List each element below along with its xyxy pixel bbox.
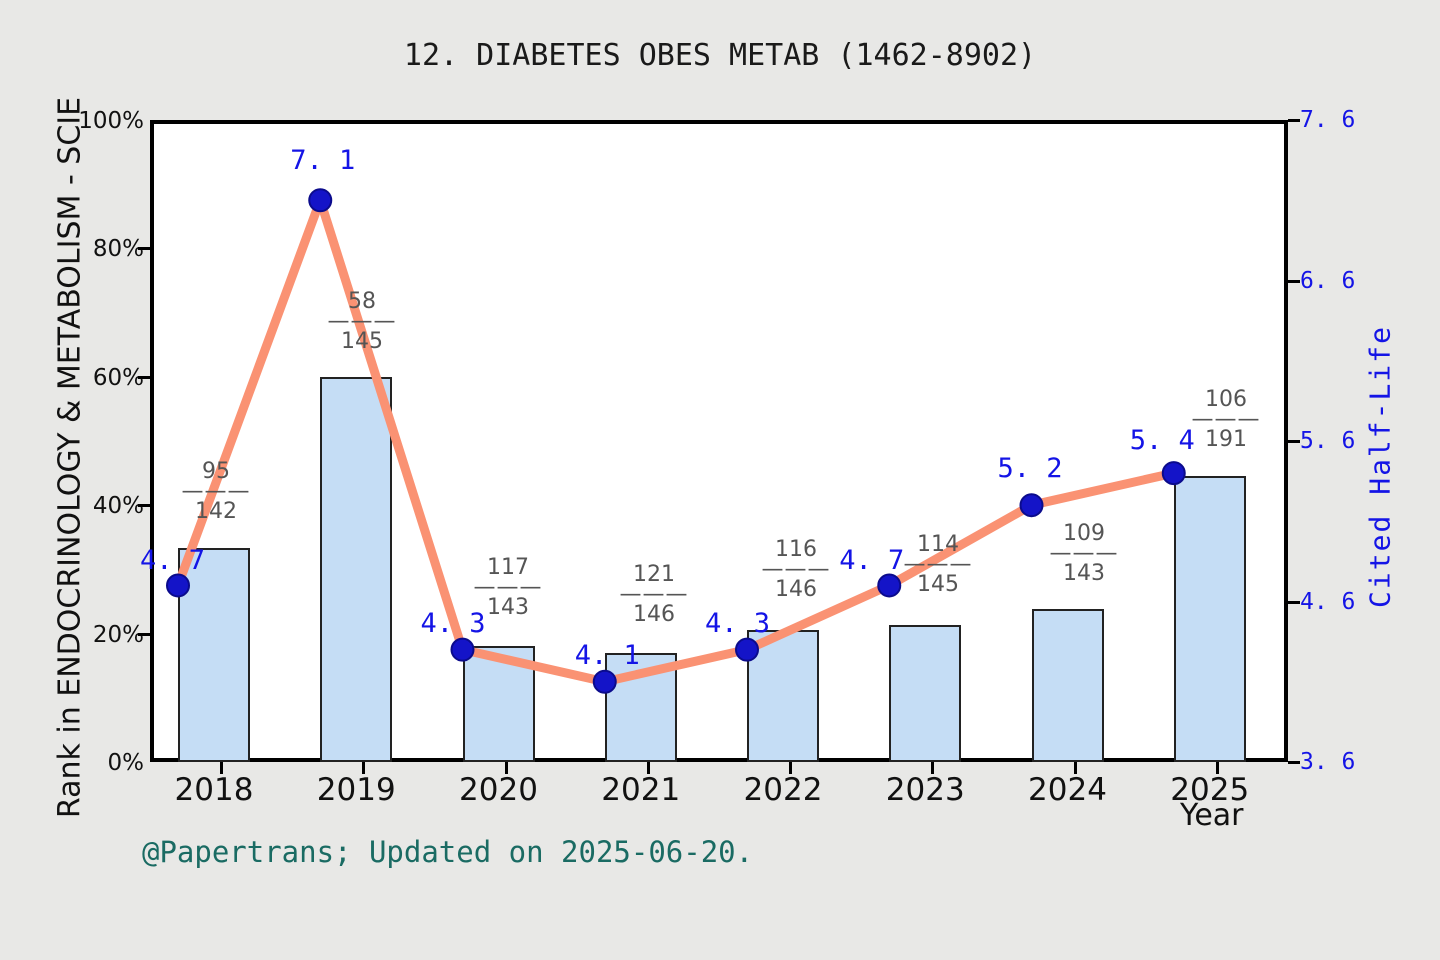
rank-fraction-2024: 109———143	[1024, 522, 1144, 585]
bar-2023	[889, 625, 961, 762]
rank-fraction-denominator: 191	[1166, 428, 1286, 451]
rank-fraction-denominator: 145	[878, 573, 998, 596]
chart-root: 12. DIABETES OBES METAB (1462-8902) Rank…	[0, 0, 1440, 960]
bar-2022	[747, 630, 819, 762]
point-label-2022: 4. 3	[705, 608, 770, 639]
rank-fraction-2023: 114———145	[878, 533, 998, 596]
y-axis-right-tick-label: 6. 6	[1300, 268, 1355, 294]
point-label-2019: 7. 1	[290, 145, 355, 176]
x-axis-tick-label-2020: 2020	[429, 772, 569, 808]
y-axis-right-tick-label: 7. 6	[1300, 107, 1355, 133]
x-axis-tick-label-2025: 2025	[1140, 772, 1280, 808]
y-axis-left-tick-label: 100%	[24, 108, 144, 134]
y-axis-right-title: Cited Half-Life	[1364, 167, 1397, 767]
footer-note: @Papertrans; Updated on 2025-06-20.	[142, 835, 753, 869]
y-axis-right-tick-mark	[1288, 601, 1300, 604]
y-axis-left-tick-mark	[138, 376, 151, 379]
y-axis-left-tick-mark	[138, 247, 151, 250]
y-axis-left-tick-mark	[138, 633, 151, 636]
y-axis-left-tick-mark	[138, 504, 151, 507]
point-label-2018: 4. 7	[140, 545, 205, 576]
x-axis-tick-label-2022: 2022	[713, 772, 853, 808]
rank-fraction-2018: 95———142	[156, 460, 276, 523]
y-axis-left-tick-label: 20%	[24, 622, 144, 648]
y-axis-right-tick-mark	[1288, 280, 1300, 283]
rank-fraction-denominator: 146	[736, 578, 856, 601]
y-axis-right-tick-label: 4. 6	[1300, 589, 1355, 615]
y-axis-right-tick-mark	[1288, 761, 1300, 764]
rank-fraction-2020: 117———143	[448, 556, 568, 619]
rank-fraction-denominator: 143	[448, 596, 568, 619]
y-axis-right-tick-mark	[1288, 440, 1300, 443]
y-axis-left-tick-label: 80%	[24, 236, 144, 262]
bar-2019	[320, 377, 392, 762]
point-label-2024: 5. 2	[998, 453, 1063, 484]
rank-fraction-denominator: 145	[302, 330, 422, 353]
y-axis-right-tick-mark	[1288, 119, 1300, 122]
bar-2020	[463, 646, 535, 762]
rank-fraction-2025: 106———191	[1166, 388, 1286, 451]
rank-fraction-denominator: 143	[1024, 562, 1144, 585]
y-axis-right-tick-label: 3. 6	[1300, 749, 1355, 775]
rank-fraction-2021: 121———146	[594, 563, 714, 626]
point-label-2021: 4. 1	[575, 640, 640, 671]
x-axis-tick-label-2018: 2018	[144, 772, 284, 808]
x-axis-tick-label-2019: 2019	[286, 772, 426, 808]
rank-fraction-denominator: 142	[156, 500, 276, 523]
rank-fraction-2022: 116———146	[736, 538, 856, 601]
y-axis-left-tick-label: 0%	[24, 750, 144, 776]
rank-fraction-2019: 58———145	[302, 290, 422, 353]
y-axis-left-tick-label: 60%	[24, 365, 144, 391]
x-axis-tick-label-2021: 2021	[571, 772, 711, 808]
rank-fraction-denominator: 146	[594, 603, 714, 626]
y-axis-left-tick-label: 40%	[24, 493, 144, 519]
bar-2024	[1032, 609, 1104, 762]
y-axis-right-tick-label: 5. 6	[1300, 428, 1355, 454]
bar-2018	[178, 548, 250, 762]
bar-2025	[1174, 476, 1246, 762]
chart-title: 12. DIABETES OBES METAB (1462-8902)	[0, 38, 1440, 73]
y-axis-left-title: Rank in ENDOCRINOLOGY & METABOLISM - SCI…	[53, 58, 88, 858]
x-axis-tick-label-2024: 2024	[998, 772, 1138, 808]
x-axis-tick-label-2023: 2023	[855, 772, 995, 808]
